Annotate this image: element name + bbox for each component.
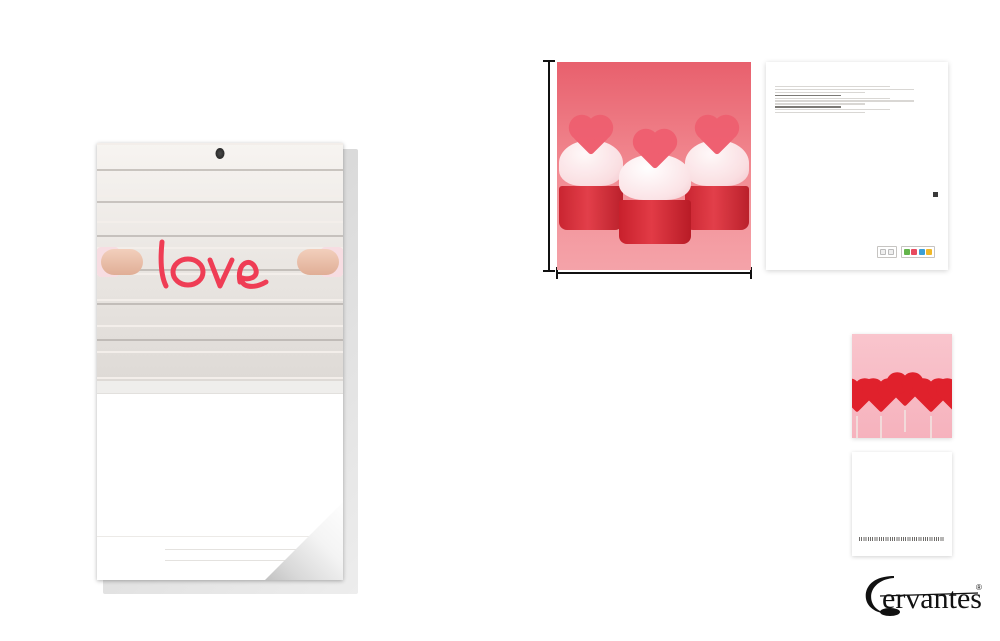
blind-slat xyxy=(97,339,343,341)
heart-icon xyxy=(699,119,736,156)
badge-symbol xyxy=(911,249,917,255)
love-rope-icon xyxy=(140,236,300,298)
fineprint-line xyxy=(775,109,890,110)
main-calendar-mockup xyxy=(97,143,352,588)
blind-slat xyxy=(97,201,343,203)
fineprint-line xyxy=(775,100,914,101)
fineprint-line xyxy=(775,92,865,93)
calendar-back-cover xyxy=(766,62,948,270)
calendar-cover xyxy=(557,62,751,270)
year-planner-page xyxy=(852,452,952,556)
recycling-badge xyxy=(901,246,936,258)
back-cover-fineprint xyxy=(775,86,939,113)
cupcake-wrapper xyxy=(685,186,749,230)
fineprint-line xyxy=(775,86,890,87)
heart-icon xyxy=(637,133,674,170)
heart-icon xyxy=(573,119,610,156)
svg-text:®: ® xyxy=(976,583,982,592)
badge-symbol xyxy=(919,249,925,255)
cupcake-wrapper xyxy=(619,200,691,244)
fineprint-line xyxy=(775,89,914,90)
print-mark-icon xyxy=(933,192,938,197)
badge-symbol xyxy=(888,249,894,255)
frosting xyxy=(559,140,623,186)
frosting xyxy=(619,154,691,200)
hanging-hole-icon xyxy=(216,148,225,159)
badge-symbol xyxy=(880,249,886,255)
weekday-header-row xyxy=(97,381,343,394)
cupcake-left xyxy=(559,140,623,230)
cupcake-center xyxy=(619,154,691,244)
height-measure-line xyxy=(548,60,550,272)
year-planner-grid xyxy=(859,461,945,533)
width-measure-line xyxy=(556,272,752,274)
hand-left xyxy=(101,249,143,275)
fineprint-line xyxy=(775,112,865,113)
fineprint-line xyxy=(775,98,890,99)
frosting xyxy=(685,140,749,186)
cupcake-right xyxy=(685,140,749,230)
fineprint-line xyxy=(775,106,841,107)
cervantes-logo-icon: ervantes ® xyxy=(860,568,988,620)
panel-2027 xyxy=(852,334,952,438)
cupcake-wrapper xyxy=(559,186,623,230)
calendar-photo-panel xyxy=(97,143,343,381)
ce-mark-badge xyxy=(877,246,897,258)
back-cover-badges xyxy=(877,244,939,258)
fineprint-line xyxy=(775,103,865,104)
year-planner-footer xyxy=(859,537,945,541)
svg-text:ervantes: ervantes xyxy=(882,582,982,615)
blind-slat xyxy=(97,303,343,305)
hand-right xyxy=(297,249,339,275)
heart-lollipop-icon xyxy=(944,386,952,438)
badge-symbol xyxy=(904,249,910,255)
calendar-body xyxy=(97,143,343,580)
date-grid xyxy=(97,394,343,536)
mini-month-calendar xyxy=(105,542,157,575)
month-thumbnail-grid xyxy=(557,334,854,555)
fineprint-line xyxy=(775,95,841,96)
heart-lollipop-icon xyxy=(870,386,892,438)
cervantes-logo: ervantes ® xyxy=(860,568,988,620)
blind-slat xyxy=(97,169,343,171)
badge-symbol xyxy=(926,249,932,255)
